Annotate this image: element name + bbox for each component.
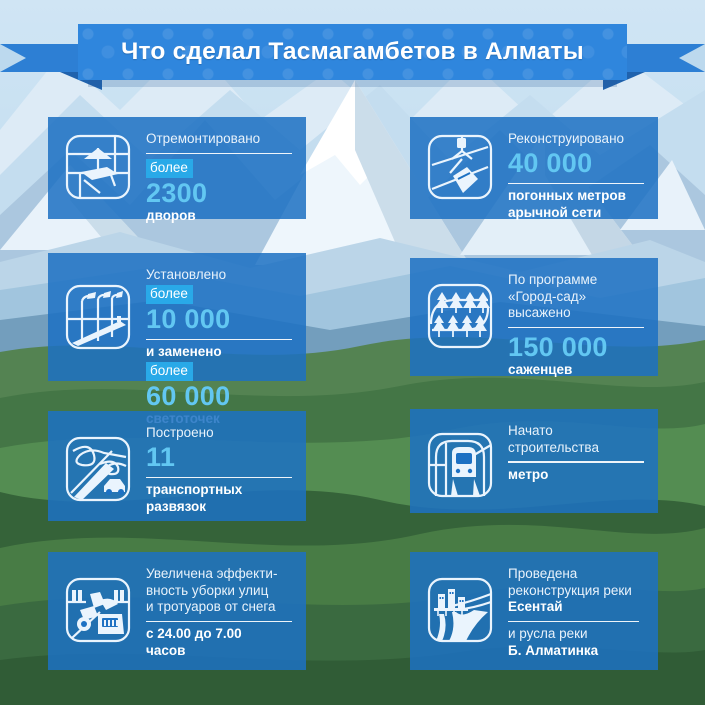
courtyard-icon xyxy=(60,129,136,205)
card7-unit-line2: часов xyxy=(146,643,292,660)
stat-card-streetlights: Установлено более 10 000 и заменено боле… xyxy=(48,253,306,381)
stat-card-snow-removal: Увеличена эффекти- вность уборки улиц и … xyxy=(48,552,306,670)
card7-unit-line1: с 24.00 до 7.00 xyxy=(146,626,292,643)
irrigation-canal-icon xyxy=(422,129,498,205)
card6-divider xyxy=(508,461,644,463)
stat-card-metro: Начато строительства метро xyxy=(410,409,658,513)
ribbon-shadow xyxy=(88,80,617,87)
card3-number: 10 000 xyxy=(146,304,292,334)
card3-label: Установлено xyxy=(146,267,292,284)
stat-card-rivers: Проведена реконструкция реки Есентай и р… xyxy=(410,552,658,670)
card3-label2: и заменено xyxy=(146,344,292,361)
card5-unit-line1: транспортных xyxy=(146,482,292,499)
card8-label-line2: реконструкция реки xyxy=(508,583,644,600)
ribbon-bar: Что сделал Тасмагамбетов в Алматы xyxy=(78,24,627,80)
card8-label-line1: Проведена xyxy=(508,566,644,583)
stat-card-trees: По программе «Город-сад» высажено 150 00… xyxy=(410,258,658,376)
card3-badge: более xyxy=(146,285,193,304)
interchange-icon xyxy=(60,431,136,507)
river-city-icon xyxy=(422,572,498,648)
card5-divider xyxy=(146,477,292,479)
card5-unit-line2: развязок xyxy=(146,499,292,516)
card1-label: Отремонтировано xyxy=(146,131,292,148)
stat-card-canals: Реконструировано 40 000 погонных метров … xyxy=(410,117,658,219)
card7-label-line3: и тротуаров от снега xyxy=(146,599,292,616)
title-ribbon: Что сделал Тасмагамбетов в Алматы xyxy=(0,18,705,80)
card6-unit: метро xyxy=(508,467,644,484)
card7-label-line1: Увеличена эффекти- xyxy=(146,566,292,583)
card3-divider xyxy=(146,339,292,341)
card2-number: 40 000 xyxy=(508,148,644,178)
card4-label-line1: По программе xyxy=(508,272,644,289)
card4-label-line2: «Город-сад» xyxy=(508,289,644,306)
card4-number: 150 000 xyxy=(508,332,644,362)
streetlamp-icon xyxy=(60,279,136,355)
card1-divider xyxy=(146,153,292,155)
card3-badge2: более xyxy=(146,362,193,381)
card8-divider xyxy=(508,621,639,623)
card8-label-line3: и русла реки xyxy=(508,626,644,643)
page-title: Что сделал Тасмагамбетов в Алматы xyxy=(121,38,584,66)
card1-number: 2300 xyxy=(146,178,292,208)
card6-label-line1: Начато xyxy=(508,423,644,440)
card5-number: 11 xyxy=(146,442,292,472)
card1-unit: дворов xyxy=(146,208,292,225)
metro-train-icon xyxy=(422,427,498,503)
stat-card-interchanges: Построено 11 транспортных развязок xyxy=(48,411,306,521)
snowplow-icon xyxy=(60,572,136,648)
card7-divider xyxy=(146,621,292,623)
card2-unit-line1: погонных метров xyxy=(508,188,644,205)
card6-label-line2: строительства xyxy=(508,440,644,457)
trees-icon xyxy=(422,278,498,354)
card5-label: Построено xyxy=(146,425,292,442)
card8-river2: Б. Алматинка xyxy=(508,643,644,660)
card1-badge: более xyxy=(146,159,193,178)
card2-unit-line2: арычной сети xyxy=(508,205,644,222)
card7-label-line2: вность уборки улиц xyxy=(146,583,292,600)
card4-label-line3: высажено xyxy=(508,305,644,322)
stat-card-courtyards: Отремонтировано более 2300 дворов xyxy=(48,117,306,219)
card2-divider xyxy=(508,183,644,185)
card3-number2: 60 000 xyxy=(146,381,292,411)
card2-label: Реконструировано xyxy=(508,131,644,148)
card8-river1: Есентай xyxy=(508,599,644,616)
card4-divider xyxy=(508,327,644,329)
card4-unit: саженцев xyxy=(508,362,644,379)
